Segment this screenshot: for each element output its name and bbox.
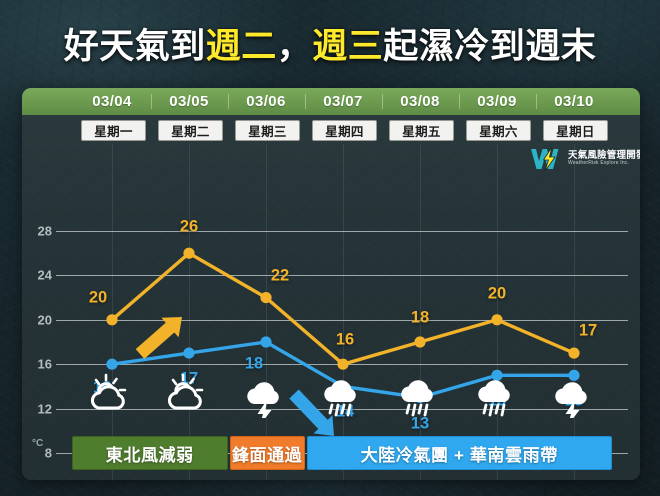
date-divider [305,94,306,109]
title-part-3: 起濕冷到週末 [383,27,596,66]
high-temp-label-7: 17 [579,322,597,341]
high-temp-point-6 [491,314,502,325]
page-title: 好天氣到週二，週三起濕冷到週末 [0,16,660,70]
temperature-plot-area: 28242016128 °C 2026221618201716171814131… [22,144,640,480]
legend-bar-2: 鋒面通過 [230,436,305,470]
date-header-4: 03/07 [305,88,382,115]
weekday-badge-7: 星期日 [543,120,608,141]
low-temp-point-1 [106,359,117,370]
temperature-lines-svg [22,144,640,480]
low-temp-point-3 [260,336,271,347]
high-temp-label-2: 26 [180,218,198,237]
date-header-1: 03/04 [74,88,151,115]
legend-bar-3: 大陸冷氣團 + 華南雲雨帶 [307,436,613,470]
high-temp-point-7 [568,348,579,359]
weekday-badge-4: 星期四 [312,120,377,141]
weekday-badge-6: 星期六 [466,120,531,141]
thunderstorm-icon [239,370,293,418]
logo-w-lightning-icon [530,147,564,171]
rain-icon [470,370,524,418]
rain-icon [393,370,447,418]
date-divider [459,94,460,109]
high-temp-label-5: 18 [411,309,429,328]
date-header-5: 03/08 [382,88,459,115]
weekday-badge-5: 星期五 [389,120,454,141]
low-temp-point-2 [183,348,194,359]
legend-bar-1: 東北風減弱 [72,436,228,470]
high-temp-label-3: 22 [271,266,289,285]
high-temp-point-3 [260,292,271,303]
title-highlight-wednesday: 週三 [312,27,383,66]
date-header-2: 03/05 [151,88,228,115]
title-highlight-tuesday: 週二 [206,27,277,66]
partly-cloudy-icon [85,370,139,418]
rising-temp-arrow [136,317,182,359]
rain-icon [316,370,370,418]
weekday-badge-1: 星期一 [81,120,146,141]
high-temp-point-4 [337,359,348,370]
weekday-badge-2: 星期二 [158,120,223,141]
date-header-7: 03/10 [536,88,613,115]
date-divider [536,94,537,109]
high-temp-point-5 [414,336,425,347]
date-header-6: 03/09 [459,88,536,115]
title-part-1: 好天氣到 [64,27,206,66]
weather-pattern-legend: 東北風減弱鋒面通過大陸冷氣團 + 華南雲雨帶 [22,436,640,470]
thunderstorm-icon [547,370,601,418]
forecast-chart-panel: 03/0403/0503/0603/0703/0803/0903/10 2824… [22,88,640,480]
date-divider [151,94,152,109]
date-header-3: 03/06 [228,88,305,115]
high-temp-point-1 [106,314,117,325]
weekday-badge-3: 星期三 [235,120,300,141]
date-divider [228,94,229,109]
title-part-2: ， [277,27,313,66]
high-temp-point-2 [183,248,194,259]
high-temp-label-6: 20 [488,284,506,303]
high-temp-label-1: 20 [89,288,107,307]
weatherrisk-logo: 天氣風險管理開發 WeatherRisk Explore Inc. [530,146,640,172]
high-temp-label-4: 16 [336,331,354,350]
logo-name-en: WeatherRisk Explore Inc. [568,161,640,166]
date-header-bar: 03/0403/0503/0603/0703/0803/0903/10 [22,88,640,115]
date-divider [382,94,383,109]
partly-cloudy-icon [162,370,216,418]
